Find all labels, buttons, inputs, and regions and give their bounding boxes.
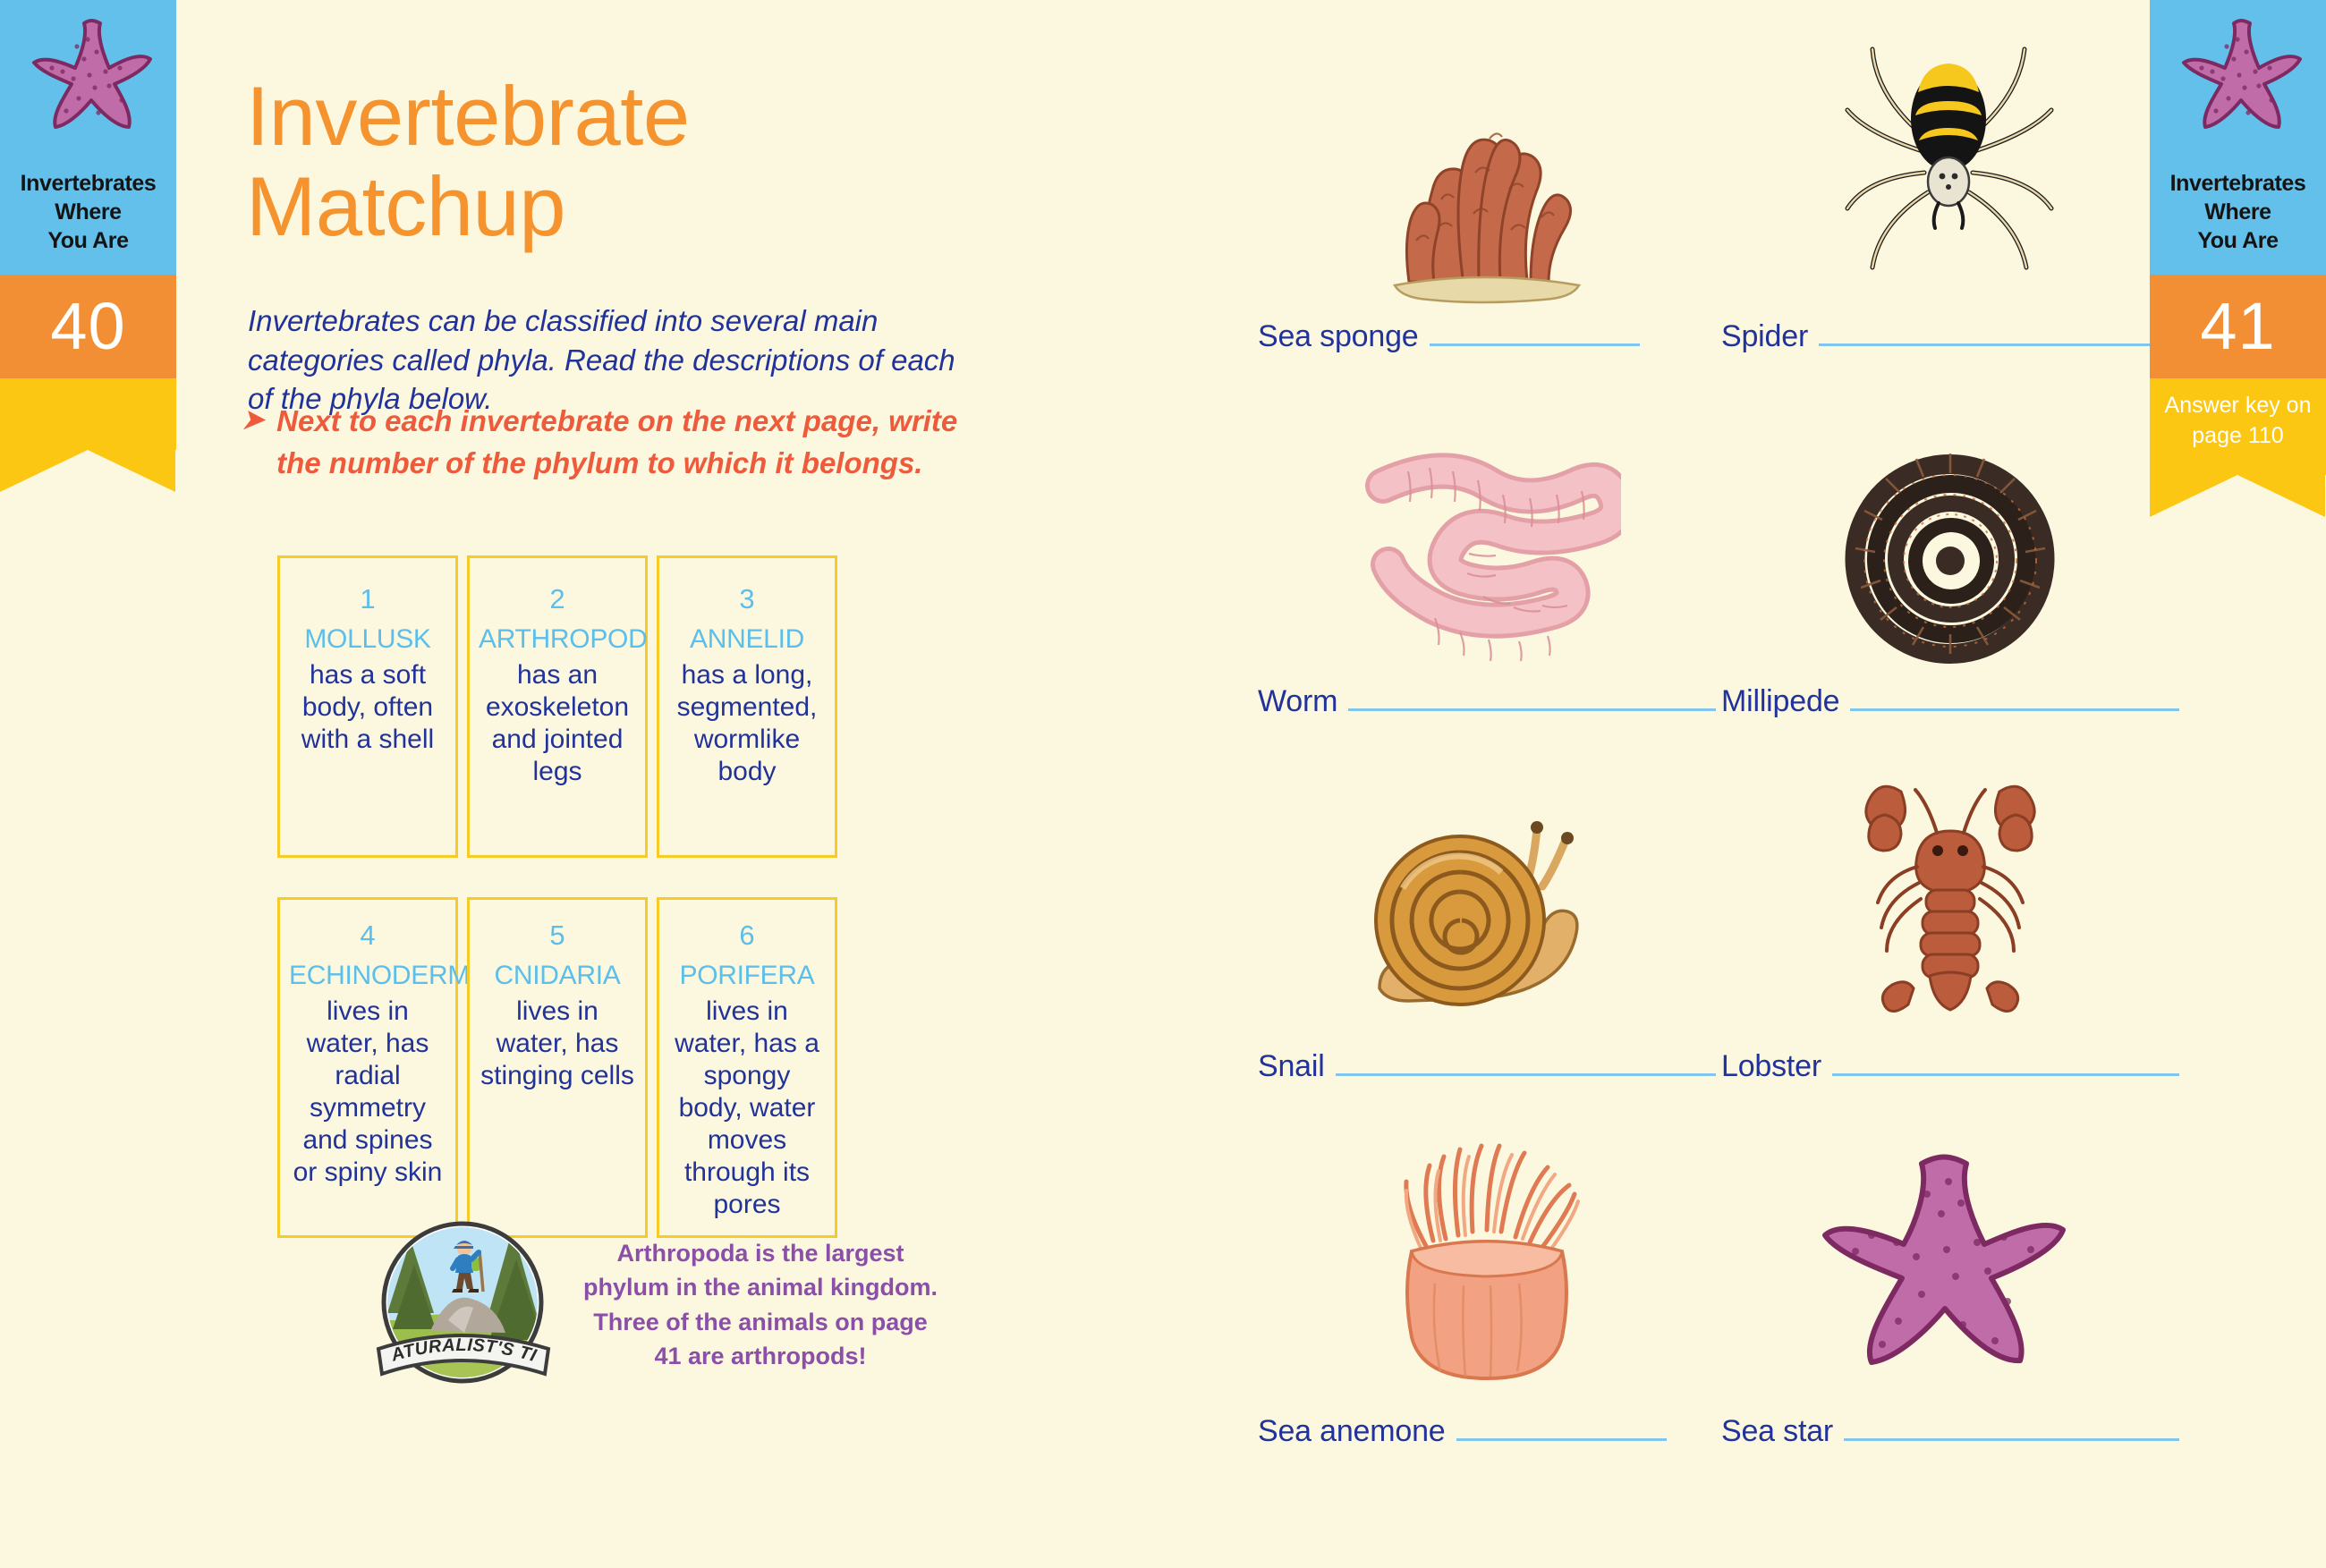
animal-label: Sea star [1721, 1414, 1833, 1449]
phylum-number: 4 [289, 921, 446, 949]
answer-row: Spider [1721, 307, 2179, 354]
phylum-description: lives in water, has stinging cells [479, 996, 636, 1092]
animal-item-sea-anemone: Sea anemone [1258, 1111, 1716, 1487]
worm-icon [1258, 381, 1716, 672]
right-tab-header: Invertebrates Where You Are [2150, 0, 2326, 275]
animal-item-worm: Worm [1258, 381, 1716, 746]
answer-key-ribbon: Answer key on page 110 [2150, 378, 2326, 475]
page-title-line1: Invertebrate [246, 72, 690, 162]
sea-star-icon [21, 16, 156, 164]
answer-input-millipede[interactable] [1850, 688, 2179, 711]
left-tab-label: Invertebrates Where You Are [21, 169, 157, 255]
left-page-number-band: 40 [0, 275, 176, 378]
phylum-number: 2 [479, 585, 636, 613]
phylum-name: ECHINODERM [289, 962, 446, 990]
animal-item-sea-sponge: Sea sponge [1258, 16, 1716, 381]
phylum-number: 3 [668, 585, 826, 613]
phylum-number: 5 [479, 921, 636, 949]
sea-star-icon [1721, 1111, 2179, 1402]
lobster-icon [1721, 746, 2179, 1037]
animal-item-millipede: Millipede [1721, 381, 2179, 746]
left-tab-label-line3: You Are [21, 226, 157, 255]
animal-label: Spider [1721, 319, 1808, 354]
phylum-box-2[interactable]: 2 ARTHROPOD has an exoskeleton and joint… [467, 555, 648, 858]
answer-input-sea-star[interactable] [1844, 1418, 2179, 1441]
animal-answer-grid: Sea sponge [1258, 16, 2179, 1487]
answer-row: Worm [1258, 672, 1716, 719]
naturalist-tip-badge-icon: NATURALIST'S TIP [371, 1213, 555, 1396]
animal-label: Worm [1258, 684, 1337, 719]
phylum-name: PORIFERA [668, 962, 826, 990]
answer-row: Sea sponge [1258, 307, 1716, 354]
phylum-name: ARTHROPOD [479, 625, 636, 654]
answer-input-sea-sponge[interactable] [1430, 323, 1640, 346]
phylum-description: has a soft body, often with a shell [289, 659, 446, 756]
phylum-description: lives in water, has a spongy body, water… [668, 996, 826, 1221]
instruction-callout: ➤ Next to each invertebrate on the next … [242, 401, 975, 485]
left-page-tab: Invertebrates Where You Are 40 [0, 0, 176, 450]
animal-label: Snail [1258, 1049, 1325, 1084]
animal-label: Millipede [1721, 684, 1839, 719]
naturalist-tip: NATURALIST'S TIP Arthropoda is the large… [371, 1213, 939, 1396]
right-tab-label-line3: You Are [2170, 226, 2306, 255]
left-tab-label-line1: Invertebrates [21, 169, 157, 198]
right-tab-label-line2: Where [2170, 198, 2306, 226]
answer-input-lobster[interactable] [1832, 1053, 2179, 1076]
phylum-description: lives in water, has radial symmetry and … [289, 996, 446, 1189]
phylum-description: has a long, segmented, wormlike body [668, 659, 826, 788]
animal-label: Sea anemone [1258, 1414, 1446, 1449]
phylum-description: has an exoskeleton and jointed legs [479, 659, 636, 788]
answer-input-sea-anemone[interactable] [1456, 1418, 1667, 1441]
answer-key-note: Answer key on page 110 [2162, 391, 2313, 452]
answer-input-snail[interactable] [1336, 1053, 1716, 1076]
answer-row: Snail [1258, 1037, 1716, 1084]
phylum-box-5[interactable]: 5 CNIDARIA lives in water, has stinging … [467, 897, 648, 1238]
page-title-line2: Matchup [246, 162, 690, 252]
phylum-box-row-2: 4 ECHINODERM lives in water, has radial … [277, 897, 837, 1238]
animal-item-lobster: Lobster [1721, 746, 2179, 1111]
sea-anemone-icon [1258, 1111, 1716, 1402]
left-tab-label-line2: Where [21, 198, 157, 226]
animal-item-spider: Spider [1721, 16, 2179, 381]
answer-input-spider[interactable] [1819, 323, 2179, 346]
left-ribbon [0, 378, 176, 450]
phylum-number: 6 [668, 921, 826, 949]
answer-row: Millipede [1721, 672, 2179, 719]
instruction-text: Next to each invertebrate on the next pa… [276, 401, 975, 485]
right-page-number-band: 41 [2150, 275, 2326, 378]
right-page-number: 41 [2200, 293, 2275, 360]
answer-row: Lobster [1721, 1037, 2179, 1084]
animal-item-snail: Snail [1258, 746, 1716, 1111]
sea-star-icon [2171, 16, 2305, 164]
snail-icon [1258, 746, 1716, 1037]
left-page: Invertebrate Matchup Invertebrates can b… [176, 0, 1163, 1568]
phylum-box-row-1: 1 MOLLUSK has a soft body, often with a … [277, 555, 837, 858]
animal-label: Sea sponge [1258, 319, 1419, 354]
arrow-bullet-icon: ➤ [242, 401, 264, 485]
phylum-name: CNIDARIA [479, 962, 636, 990]
left-page-number: 40 [50, 293, 125, 360]
right-tab-label-line1: Invertebrates [2170, 169, 2306, 198]
animal-label: Lobster [1721, 1049, 1821, 1084]
phylum-box-4[interactable]: 4 ECHINODERM lives in water, has radial … [277, 897, 458, 1238]
sea-sponge-icon [1258, 16, 1716, 307]
answer-input-worm[interactable] [1348, 688, 1716, 711]
phylum-name: MOLLUSK [289, 625, 446, 654]
phylum-number: 1 [289, 585, 446, 613]
phylum-box-6[interactable]: 6 PORIFERA lives in water, has a spongy … [657, 897, 837, 1238]
workbook-spread: Invertebrates Where You Are 40 Invertebr… [0, 0, 2326, 1568]
right-page: Sea sponge [1163, 0, 2150, 1568]
millipede-icon [1721, 381, 2179, 672]
spider-icon [1721, 16, 2179, 307]
phylum-box-1[interactable]: 1 MOLLUSK has a soft body, often with a … [277, 555, 458, 858]
phylum-box-3[interactable]: 3 ANNELID has a long, segmented, wormlik… [657, 555, 837, 858]
animal-item-sea-star: Sea star [1721, 1111, 2179, 1487]
right-page-tab: Invertebrates Where You Are 41 Answer ke… [2150, 0, 2326, 475]
answer-row: Sea star [1721, 1402, 2179, 1449]
phylum-name: ANNELID [668, 625, 826, 654]
naturalist-tip-text: Arthropoda is the largest phylum in the … [581, 1236, 939, 1373]
right-tab-label: Invertebrates Where You Are [2170, 169, 2306, 255]
left-tab-header: Invertebrates Where You Are [0, 0, 176, 275]
answer-row: Sea anemone [1258, 1402, 1716, 1449]
page-title: Invertebrate Matchup [246, 72, 690, 251]
